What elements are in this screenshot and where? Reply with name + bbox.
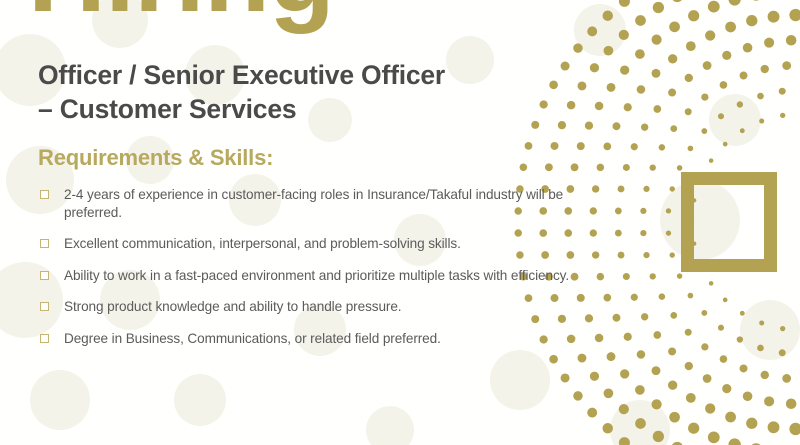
- list-item-label: Strong product knowledge and ability to …: [64, 298, 570, 316]
- hiring-headline-cropped: Hiring: [28, 0, 548, 34]
- checkbox-icon: [40, 302, 49, 311]
- list-item-label: Excellent communication, interpersonal, …: [64, 235, 570, 253]
- checkbox-icon: [40, 334, 49, 343]
- list-item: Ability to work in a fast-paced environm…: [40, 267, 570, 285]
- job-title: Officer / Senior Executive Officer – Cus…: [38, 58, 568, 126]
- gold-square-outline: [681, 172, 777, 272]
- requirements-heading: Requirements & Skills:: [38, 145, 273, 171]
- checkbox-icon: [40, 239, 49, 248]
- checkbox-icon: [40, 271, 49, 280]
- job-title-line-2: – Customer Services: [38, 92, 568, 126]
- list-item-label: Degree in Business, Communications, or r…: [64, 330, 570, 348]
- job-title-line-1: Officer / Senior Executive Officer: [38, 60, 445, 90]
- list-item-label: Ability to work in a fast-paced environm…: [64, 267, 570, 285]
- list-item: Excellent communication, interpersonal, …: [40, 235, 570, 253]
- checkbox-icon: [40, 190, 49, 199]
- list-item-label: 2-4 years of experience in customer-faci…: [64, 186, 570, 221]
- hiring-headline-text: Hiring: [28, 0, 548, 34]
- requirements-list: 2-4 years of experience in customer-faci…: [40, 186, 570, 361]
- poster-canvas: Hiring Officer / Senior Executive Office…: [0, 0, 800, 445]
- list-item: Degree in Business, Communications, or r…: [40, 330, 570, 348]
- list-item: 2-4 years of experience in customer-faci…: [40, 186, 570, 221]
- list-item: Strong product knowledge and ability to …: [40, 298, 570, 316]
